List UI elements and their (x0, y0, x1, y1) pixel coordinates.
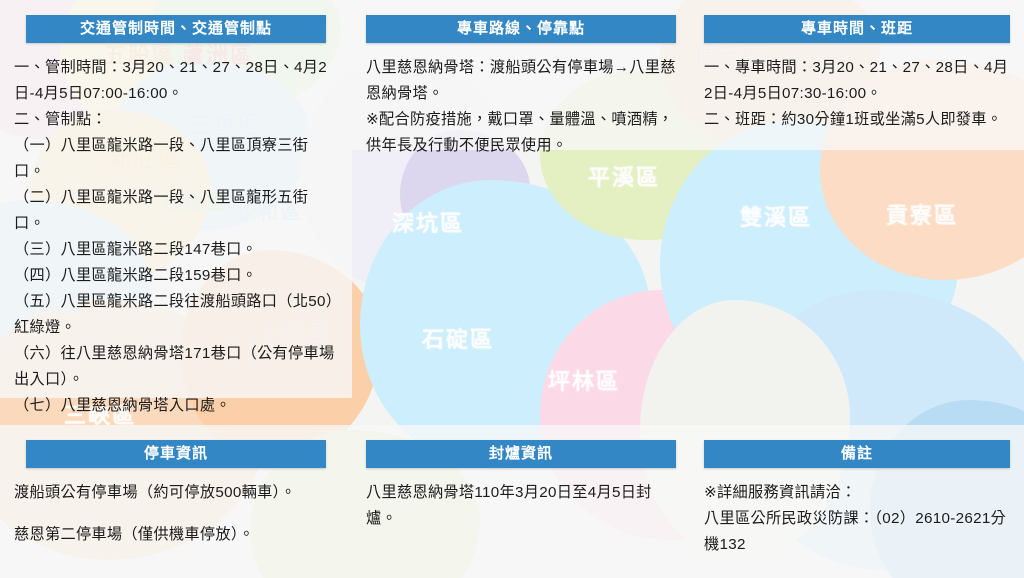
map-district-label: 雙溪區 (740, 200, 812, 232)
panel-remarks: 備註 ※詳細服務資訊請洽： 八里區公所民政災防課：（02）2610-2621分機… (690, 425, 1024, 578)
panel-furnace-closure: 封爐資訊 八里慈恩納骨塔110年3月20日至4月5日封爐。 (352, 425, 690, 578)
panel-body-remarks: ※詳細服務資訊請洽： 八里區公所民政災防課：（02）2610-2621分機132 (690, 468, 1024, 564)
panel-line: （四）八里區龍米路二段159巷口。 (14, 263, 338, 289)
map-district-label: 貢寮區 (886, 198, 958, 230)
panel-line: （六）往八里慈恩納骨塔171巷口（公有停車場出入口）。 (14, 341, 338, 393)
panel-traffic-control: 交通管制時間、交通管制點 一、管制時間：3月20、21、27、28日、4月2日-… (0, 0, 352, 398)
panel-line: 慈恩第二停車場（僅供機車停放）。 (14, 522, 338, 548)
panel-line: ※配合防疫措施，戴口罩、量體溫、噴酒精，供年長及行動不便民眾使用。 (366, 107, 676, 159)
map-district-label: 石碇區 (422, 322, 494, 354)
panel-line: 八里區公所民政災防課：（02）2610-2621分機132 (704, 506, 1010, 558)
panel-line: （五）八里區龍米路二段往渡船頭路口（北50）紅綠燈。 (14, 289, 338, 341)
panel-title-shuttle-time: 專車時間、班距 (704, 15, 1010, 43)
panel-title-remarks: 備註 (704, 440, 1010, 468)
panel-title-parking-info: 停車資訊 (26, 440, 326, 468)
panel-shuttle-time: 專車時間、班距 一、專車時間：3月20、21、27、28日、4月2日-4月5日0… (690, 0, 1024, 150)
panel-body-furnace-closure: 八里慈恩納骨塔110年3月20日至4月5日封爐。 (352, 468, 690, 538)
panel-line: 二、管制點： (14, 107, 338, 133)
panel-line: （七）八里慈恩納骨塔入口處。 (14, 393, 338, 419)
panel-body-shuttle-route: 八里慈恩納骨塔：渡船頭公有停車場→八里慈恩納骨塔。 ※配合防疫措施，戴口罩、量體… (352, 43, 690, 165)
panel-title-furnace-closure: 封爐資訊 (366, 440, 676, 468)
panel-body-traffic-control: 一、管制時間：3月20、21、27、28日、4月2日-4月5日07:00-16:… (0, 43, 352, 425)
map-district-label: 深坑區 (392, 206, 464, 238)
panel-title-traffic-control: 交通管制時間、交通管制點 (26, 15, 326, 43)
panel-title-shuttle-route: 專車路線、停靠點 (366, 15, 676, 43)
panel-body-shuttle-time: 一、專車時間：3月20、21、27、28日、4月2日-4月5日07:30-16:… (690, 43, 1024, 139)
panel-line: 二、班距：約30分鐘1班或坐滿5人即發車。 (704, 107, 1010, 133)
panel-shuttle-route: 專車路線、停靠點 八里慈恩納骨塔：渡船頭公有停車場→八里慈恩納骨塔。 ※配合防疫… (352, 0, 690, 150)
map-district-label: 坪林區 (548, 364, 620, 396)
panel-body-parking-info: 渡船頭公有停車場（約可停放500輛車）。 慈恩第二停車場（僅供機車停放）。 (0, 468, 352, 554)
panel-line: 一、專車時間：3月20、21、27、28日、4月2日-4月5日07:30-16:… (704, 55, 1010, 107)
panel-line: ※詳細服務資訊請洽： (704, 480, 1010, 506)
panel-line: （三）八里區龍米路二段147巷口。 (14, 237, 338, 263)
panel-line: 八里慈恩納骨塔110年3月20日至4月5日封爐。 (366, 480, 676, 532)
panel-line: （一）八里區龍米路一段、八里區頂寮三街口。 (14, 133, 338, 185)
panel-line: 渡船頭公有停車場（約可停放500輛車）。 (14, 480, 338, 506)
panel-line: （二）八里區龍米路一段、八里區龍形五街口。 (14, 185, 338, 237)
panel-line: 八里慈恩納骨塔：渡船頭公有停車場→八里慈恩納骨塔。 (366, 55, 676, 107)
panel-line: 一、管制時間：3月20、21、27、28日、4月2日-4月5日07:00-16:… (14, 55, 338, 107)
panel-parking-info: 停車資訊 渡船頭公有停車場（約可停放500輛車）。 慈恩第二停車場（僅供機車停放… (0, 425, 352, 578)
